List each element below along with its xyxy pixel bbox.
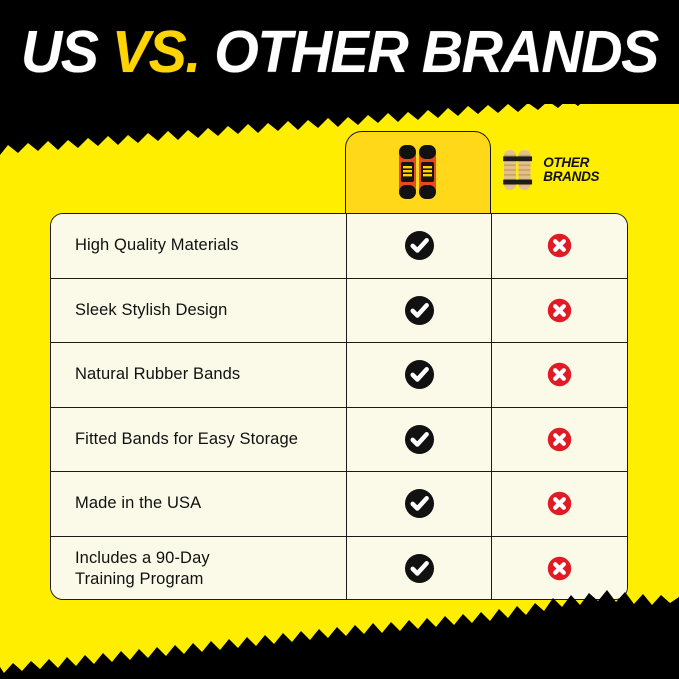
table-row: Natural Rubber Bands bbox=[51, 343, 627, 408]
x-circle-icon bbox=[547, 362, 572, 387]
title-us-text: US bbox=[21, 19, 112, 85]
us-cell bbox=[346, 472, 492, 536]
red-jump-rope-handles-icon bbox=[386, 140, 450, 204]
feature-cell: High Quality Materials bbox=[51, 214, 346, 278]
check-circle-icon bbox=[404, 424, 435, 455]
feature-cell: Sleek Stylish Design bbox=[51, 279, 346, 343]
other-brands-header: OTHER BRANDS bbox=[500, 140, 636, 200]
check-circle-icon bbox=[404, 295, 435, 326]
x-circle-icon bbox=[547, 556, 572, 581]
comparison-table: High Quality Materials Sleek Stylish Des… bbox=[50, 213, 628, 600]
other-cell bbox=[492, 279, 627, 343]
feature-label: Natural Rubber Bands bbox=[75, 364, 240, 385]
table-row: Fitted Bands for Easy Storage bbox=[51, 408, 627, 473]
poster-title-band: US VS. OTHER BRANDS bbox=[0, 0, 679, 104]
check-circle-icon bbox=[404, 488, 435, 519]
check-circle-icon bbox=[404, 553, 435, 584]
us-cell bbox=[346, 279, 492, 343]
other-cell bbox=[492, 408, 627, 472]
other-cell bbox=[492, 343, 627, 407]
table-row: Made in the USA bbox=[51, 472, 627, 537]
us-cell bbox=[346, 537, 492, 601]
feature-label: Sleek Stylish Design bbox=[75, 300, 227, 321]
feature-label: High Quality Materials bbox=[75, 235, 239, 256]
other-cell bbox=[492, 214, 627, 278]
table-row: High Quality Materials bbox=[51, 214, 627, 279]
feature-label: Includes a 90-Day Training Program bbox=[75, 548, 210, 589]
check-circle-icon bbox=[404, 230, 435, 261]
page-title: US VS. OTHER BRANDS bbox=[21, 23, 658, 82]
other-brands-label: OTHER BRANDS bbox=[543, 156, 636, 184]
us-cell bbox=[346, 214, 492, 278]
feature-cell: Fitted Bands for Easy Storage bbox=[51, 408, 346, 472]
title-vs-text: VS. bbox=[112, 19, 200, 85]
x-circle-icon bbox=[547, 233, 572, 258]
feature-cell: Made in the USA bbox=[51, 472, 346, 536]
us-product-icon-wrapper bbox=[386, 140, 450, 204]
title-other-brands-text: OTHER BRANDS bbox=[200, 19, 658, 85]
tan-foam-grips-icon bbox=[500, 144, 535, 196]
other-cell bbox=[492, 537, 627, 601]
comparison-poster: US VS. OTHER BRANDS bbox=[0, 0, 679, 679]
feature-cell: Natural Rubber Bands bbox=[51, 343, 346, 407]
feature-label: Fitted Bands for Easy Storage bbox=[75, 429, 298, 450]
table-row: Sleek Stylish Design bbox=[51, 279, 627, 344]
x-circle-icon bbox=[547, 298, 572, 323]
table-row: Includes a 90-Day Training Program bbox=[51, 537, 627, 601]
x-circle-icon bbox=[547, 427, 572, 452]
x-circle-icon bbox=[547, 491, 572, 516]
check-circle-icon bbox=[404, 359, 435, 390]
us-cell bbox=[346, 408, 492, 472]
other-cell bbox=[492, 472, 627, 536]
feature-label: Made in the USA bbox=[75, 493, 201, 514]
feature-cell: Includes a 90-Day Training Program bbox=[51, 537, 346, 601]
us-cell bbox=[346, 343, 492, 407]
